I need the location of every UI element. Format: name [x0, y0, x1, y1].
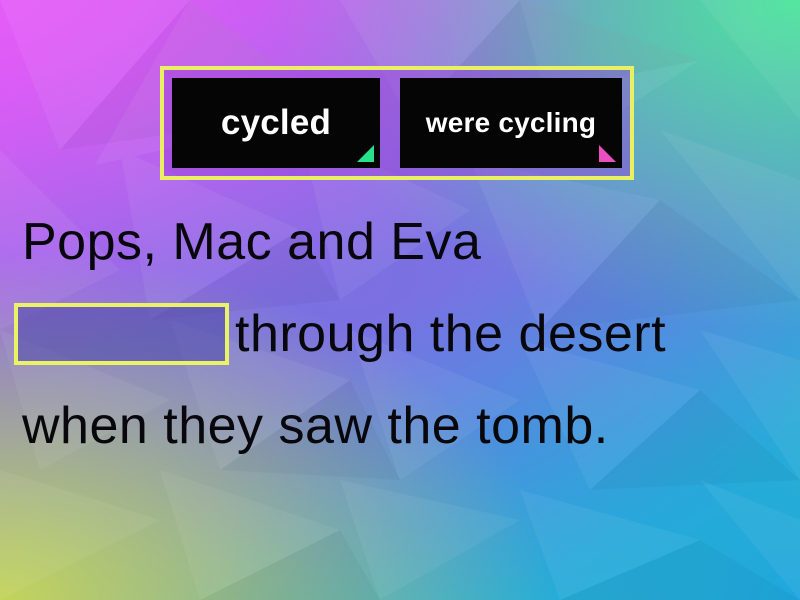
- sentence-line-2: through the desert: [0, 288, 800, 380]
- sentence-container: Pops, Mac and Eva through the desert whe…: [0, 196, 800, 472]
- answer-blank-dropzone[interactable]: [14, 303, 229, 365]
- word-choices-bank: cycled were cycling: [160, 66, 634, 180]
- sentence-line-3: when they saw the tomb.: [0, 380, 800, 472]
- sentence-text-part-1: Pops, Mac and Eva: [22, 196, 481, 288]
- pink-triangle-icon: [599, 145, 616, 162]
- word-tile-label: cycled: [221, 103, 331, 143]
- sentence-line-1: Pops, Mac and Eva: [0, 196, 800, 288]
- word-tile-label: were cycling: [426, 107, 596, 139]
- word-tile-were-cycling[interactable]: were cycling: [400, 78, 622, 168]
- green-triangle-icon: [357, 145, 374, 162]
- sentence-text-part-3: when they saw the tomb.: [22, 380, 609, 472]
- sentence-text-part-2: through the desert: [235, 288, 666, 380]
- word-tile-cycled[interactable]: cycled: [172, 78, 380, 168]
